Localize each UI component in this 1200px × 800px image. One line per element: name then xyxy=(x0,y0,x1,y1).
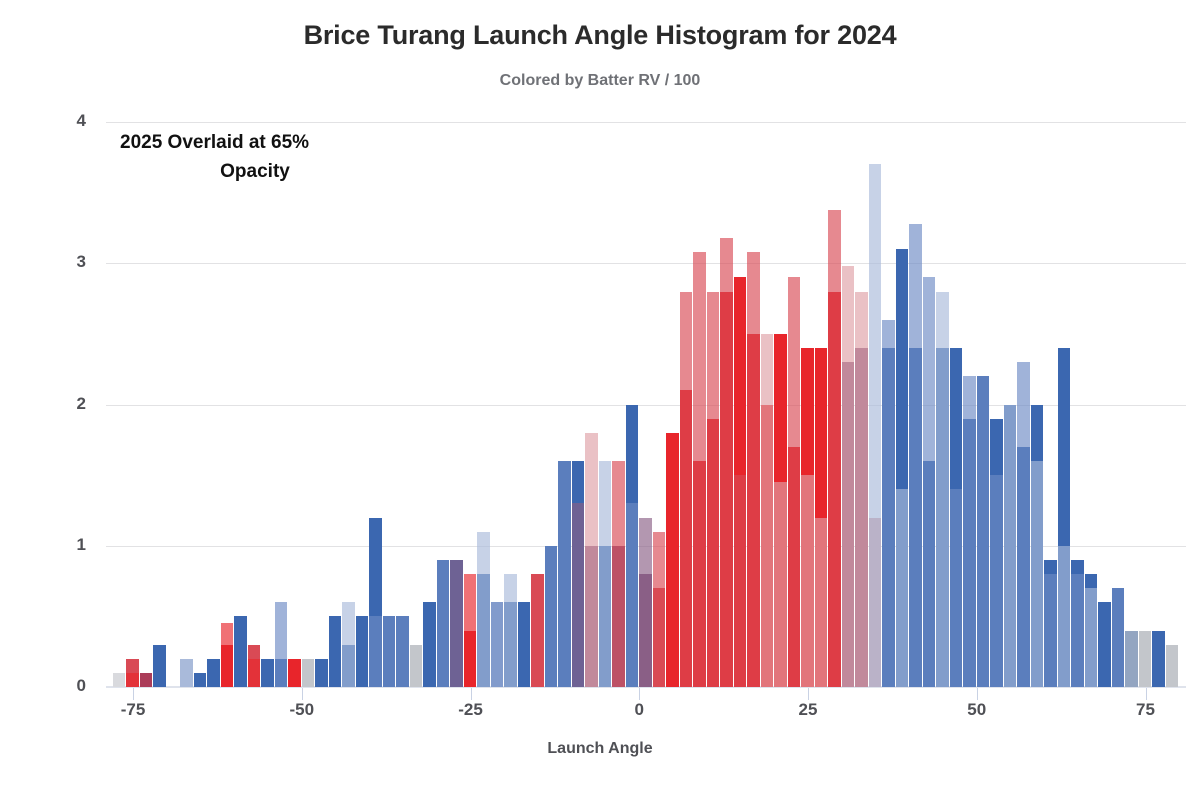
histogram-bar xyxy=(369,616,381,687)
histogram-bar xyxy=(909,224,921,687)
histogram-bar xyxy=(329,616,341,687)
histogram-bar xyxy=(666,503,678,687)
histogram-bar xyxy=(315,659,327,687)
x-axis-tick-mark xyxy=(977,688,978,700)
histogram-bar xyxy=(140,673,152,687)
y-axis-tick-label: 2 xyxy=(26,394,86,414)
histogram-bar xyxy=(572,503,584,687)
histogram-bar xyxy=(882,320,894,687)
histogram-bar xyxy=(788,277,800,687)
histogram-bar xyxy=(383,616,395,687)
x-axis-tick-mark xyxy=(639,688,640,700)
histogram-bar xyxy=(1004,405,1016,688)
histogram-bar xyxy=(801,475,813,687)
histogram-bar xyxy=(518,602,530,687)
histogram-bar xyxy=(180,659,192,687)
gridline xyxy=(106,122,1186,123)
chart-subtitle: Colored by Batter RV / 100 xyxy=(0,72,1200,90)
histogram-bar xyxy=(1139,631,1151,688)
histogram-bar xyxy=(842,266,854,687)
x-axis-label: Launch Angle xyxy=(0,740,1200,758)
histogram-bar xyxy=(275,602,287,687)
y-axis-tick-label: 4 xyxy=(26,111,86,131)
x-axis-tick-mark xyxy=(471,688,472,700)
histogram-bar xyxy=(113,673,125,687)
histogram-bar xyxy=(1031,461,1043,687)
x-axis-tick-label: 50 xyxy=(937,700,1017,720)
histogram-bar xyxy=(653,532,665,687)
histogram-bar xyxy=(1071,574,1083,687)
histogram-bar xyxy=(923,277,935,687)
histogram-bar xyxy=(410,645,422,687)
histogram-bar xyxy=(234,616,246,687)
histogram-bar xyxy=(504,574,516,687)
y-axis-tick-label: 1 xyxy=(26,535,86,555)
x-axis-tick-mark xyxy=(133,688,134,700)
histogram-bar xyxy=(153,645,165,687)
histogram-bar xyxy=(1085,588,1097,687)
histogram-bar xyxy=(585,433,597,687)
histogram-bar xyxy=(531,574,543,687)
histogram-bar xyxy=(261,659,273,687)
page-title: Brice Turang Launch Angle Histogram for … xyxy=(0,20,1200,51)
histogram-bar xyxy=(950,489,962,687)
y-axis-tick-label: 0 xyxy=(26,676,86,696)
histogram-bar xyxy=(342,602,354,687)
histogram-bar xyxy=(1125,631,1137,688)
histogram-bar xyxy=(990,475,1002,687)
histogram-bar xyxy=(734,475,746,687)
histogram-bar xyxy=(828,210,840,687)
histogram-bar xyxy=(680,292,692,688)
histogram-bar xyxy=(450,560,462,687)
launch-angle-histogram: Brice Turang Launch Angle Histogram for … xyxy=(0,0,1200,800)
histogram-bar xyxy=(693,252,705,687)
x-axis-tick-mark xyxy=(808,688,809,700)
x-axis-tick-mark xyxy=(1146,688,1147,700)
histogram-bar xyxy=(356,616,368,687)
x-axis-tick-mark xyxy=(302,688,303,700)
histogram-bar xyxy=(977,376,989,687)
histogram-bar xyxy=(639,518,651,688)
histogram-bar xyxy=(963,376,975,687)
x-axis-tick-label: 75 xyxy=(1106,700,1186,720)
histogram-bar xyxy=(1166,645,1178,687)
histogram-bar xyxy=(194,673,206,687)
histogram-bar xyxy=(545,546,557,687)
histogram-bar xyxy=(221,623,233,687)
histogram-bar xyxy=(896,489,908,687)
histogram-bar xyxy=(707,292,719,688)
histogram-bar xyxy=(1112,588,1124,687)
histogram-bar xyxy=(936,292,948,688)
histogram-bar xyxy=(612,461,624,687)
histogram-bar xyxy=(437,560,449,687)
histogram-bar xyxy=(423,602,435,687)
histogram-bar xyxy=(288,659,300,687)
histogram-bar xyxy=(815,518,827,688)
y-axis-tick-label: 3 xyxy=(26,252,86,272)
histogram-bar xyxy=(720,238,732,687)
histogram-bar xyxy=(1017,362,1029,687)
histogram-bar xyxy=(1152,631,1164,688)
histogram-bar xyxy=(774,482,786,687)
histogram-bar xyxy=(855,292,867,688)
plot-area xyxy=(106,122,1186,687)
x-axis-tick-label: 25 xyxy=(768,700,848,720)
histogram-bar xyxy=(1044,574,1056,687)
histogram-bar xyxy=(1098,602,1110,687)
x-axis-tick-label: -75 xyxy=(93,700,173,720)
histogram-bar xyxy=(558,461,570,687)
histogram-bar xyxy=(477,532,489,687)
x-axis-tick-label: 0 xyxy=(599,700,679,720)
histogram-bar xyxy=(302,659,314,687)
histogram-bar xyxy=(207,659,219,687)
histogram-bar xyxy=(396,616,408,687)
histogram-bar xyxy=(1058,546,1070,687)
histogram-bar xyxy=(464,574,476,687)
histogram-bar xyxy=(248,659,260,687)
gridline xyxy=(106,263,1186,264)
histogram-bar xyxy=(599,461,611,687)
histogram-bar xyxy=(626,503,638,687)
histogram-bar xyxy=(491,602,503,687)
histogram-bar xyxy=(747,252,759,687)
x-axis-tick-label: -50 xyxy=(262,700,342,720)
histogram-bar xyxy=(761,334,773,687)
histogram-bar xyxy=(869,164,881,687)
histogram-bar xyxy=(126,673,138,687)
x-axis-tick-label: -25 xyxy=(431,700,511,720)
